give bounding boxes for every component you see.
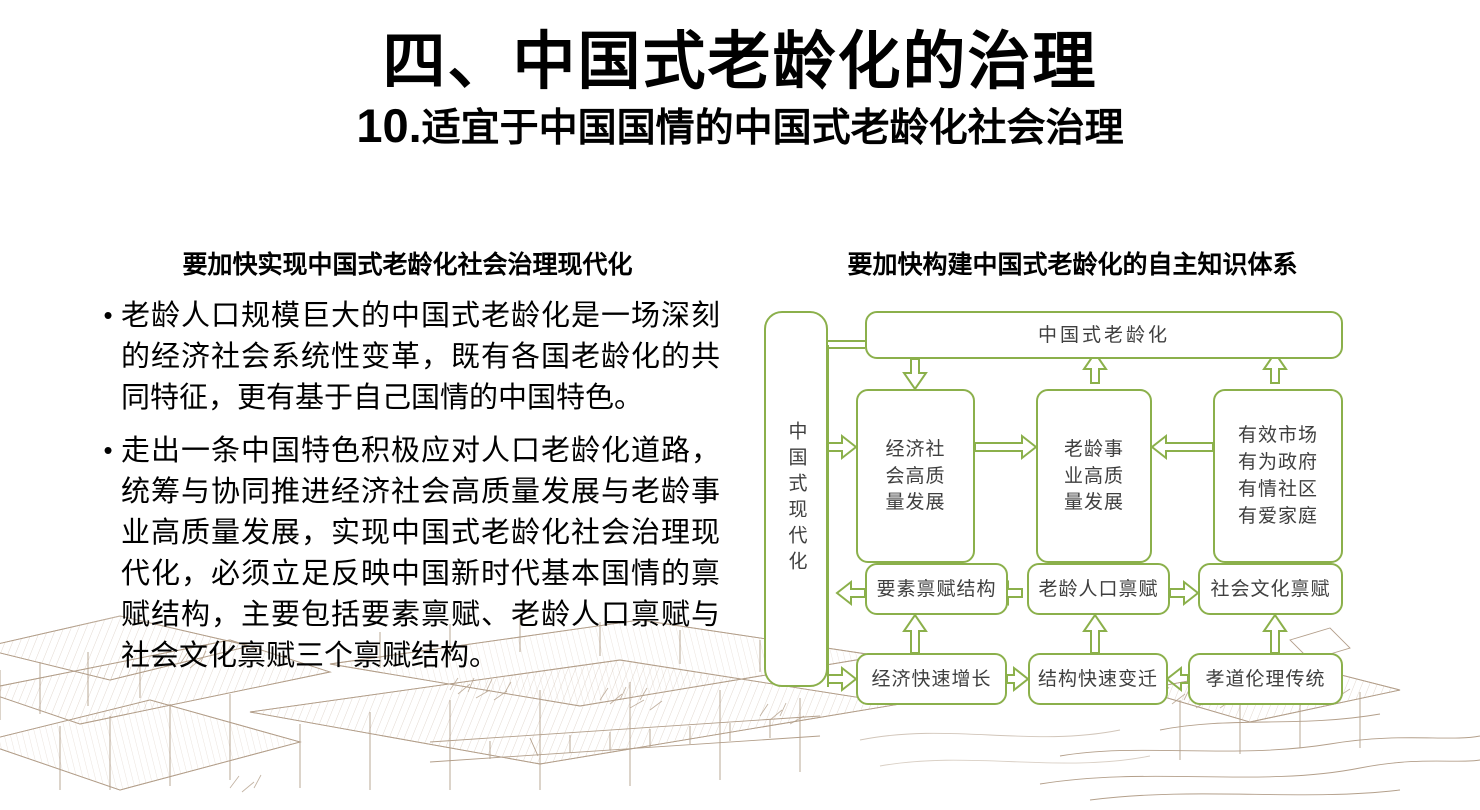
bullet-text: 老龄人口规模巨大的中国式老龄化是一场深刻的经济社会系统性变革，既有各国老龄化的共… (121, 295, 720, 418)
node-label: 经济快速增长 (871, 666, 991, 693)
right-column: 要加快构建中国式老龄化的自主知识体系 (760, 245, 1385, 722)
node-label: 结构快速变迁 (1038, 666, 1158, 693)
node-label: 社会文化禀赋 (1210, 576, 1330, 603)
diagram-node-econ-quality[interactable]: 经济社 会高质 量发展 (856, 389, 975, 563)
diagram-node-aging[interactable]: 中国式老龄化 (865, 311, 1343, 359)
page-title: 四、中国式老龄化的治理 (0, 28, 1480, 96)
title-block: 四、中国式老龄化的治理 10.适宜于中国国情的中国式老龄化社会治理 (0, 28, 1480, 152)
node-label: 经济社 会高质 量发展 (885, 436, 945, 517)
list-item: • 老龄人口规模巨大的中国式老龄化是一场深刻的经济社会系统性变革，既有各国老龄化… (95, 295, 720, 418)
diagram-node-fast-change[interactable]: 结构快速变迁 (1028, 653, 1168, 705)
node-label: 有效市场 有为政府 有情社区 有爱家庭 (1238, 422, 1318, 530)
knowledge-system-diagram: 中国式现代化 中国式老龄化 经济社 会高质 量发展 老龄事 业高质 量发展 有效… (760, 297, 1385, 722)
node-label: 老龄事 业高质 量发展 (1064, 436, 1124, 517)
diagram-node-modernization[interactable]: 中国式现代化 (764, 311, 828, 687)
left-column: 要加快实现中国式老龄化社会治理现代化 • 老龄人口规模巨大的中国式老龄化是一场深… (95, 245, 720, 688)
left-column-heading: 要加快实现中国式老龄化社会治理现代化 (95, 245, 720, 281)
node-label: 孝道伦理传统 (1205, 666, 1325, 693)
node-label: 老龄人口禀赋 (1038, 576, 1158, 603)
bullet-marker-icon: • (95, 430, 121, 471)
subtitle-text: 适宜于中国国情的中国式老龄化社会治理 (422, 107, 1124, 150)
list-item: • 走出一条中国特色积极应对人口老龄化道路，统筹与协同推进经济社会高质量发展与老… (95, 430, 720, 676)
node-label: 中国式现代化 (786, 421, 807, 577)
diagram-node-market-gov[interactable]: 有效市场 有为政府 有情社区 有爱家庭 (1213, 389, 1343, 563)
diagram-node-factor-endow[interactable]: 要素禀赋结构 (865, 563, 1008, 615)
node-label: 要素禀赋结构 (876, 576, 996, 603)
diagram-node-fast-growth[interactable]: 经济快速增长 (856, 653, 1007, 705)
page-subtitle: 10.适宜于中国国情的中国式老龄化社会治理 (0, 100, 1480, 152)
subtitle-number: 10. (356, 99, 421, 152)
bullet-text: 走出一条中国特色积极应对人口老龄化道路，统筹与协同推进经济社会高质量发展与老龄事… (121, 430, 720, 676)
diagram-node-aging-quality[interactable]: 老龄事 业高质 量发展 (1036, 389, 1152, 563)
diagram-node-filial-ethic[interactable]: 孝道伦理传统 (1188, 653, 1343, 705)
diagram-node-culture-endow[interactable]: 社会文化禀赋 (1198, 563, 1343, 615)
node-label: 中国式老龄化 (1038, 322, 1170, 349)
right-column-heading: 要加快构建中国式老龄化的自主知识体系 (760, 245, 1385, 281)
bullet-marker-icon: • (95, 295, 121, 336)
diagram-node-pop-endow[interactable]: 老龄人口禀赋 (1027, 563, 1170, 615)
